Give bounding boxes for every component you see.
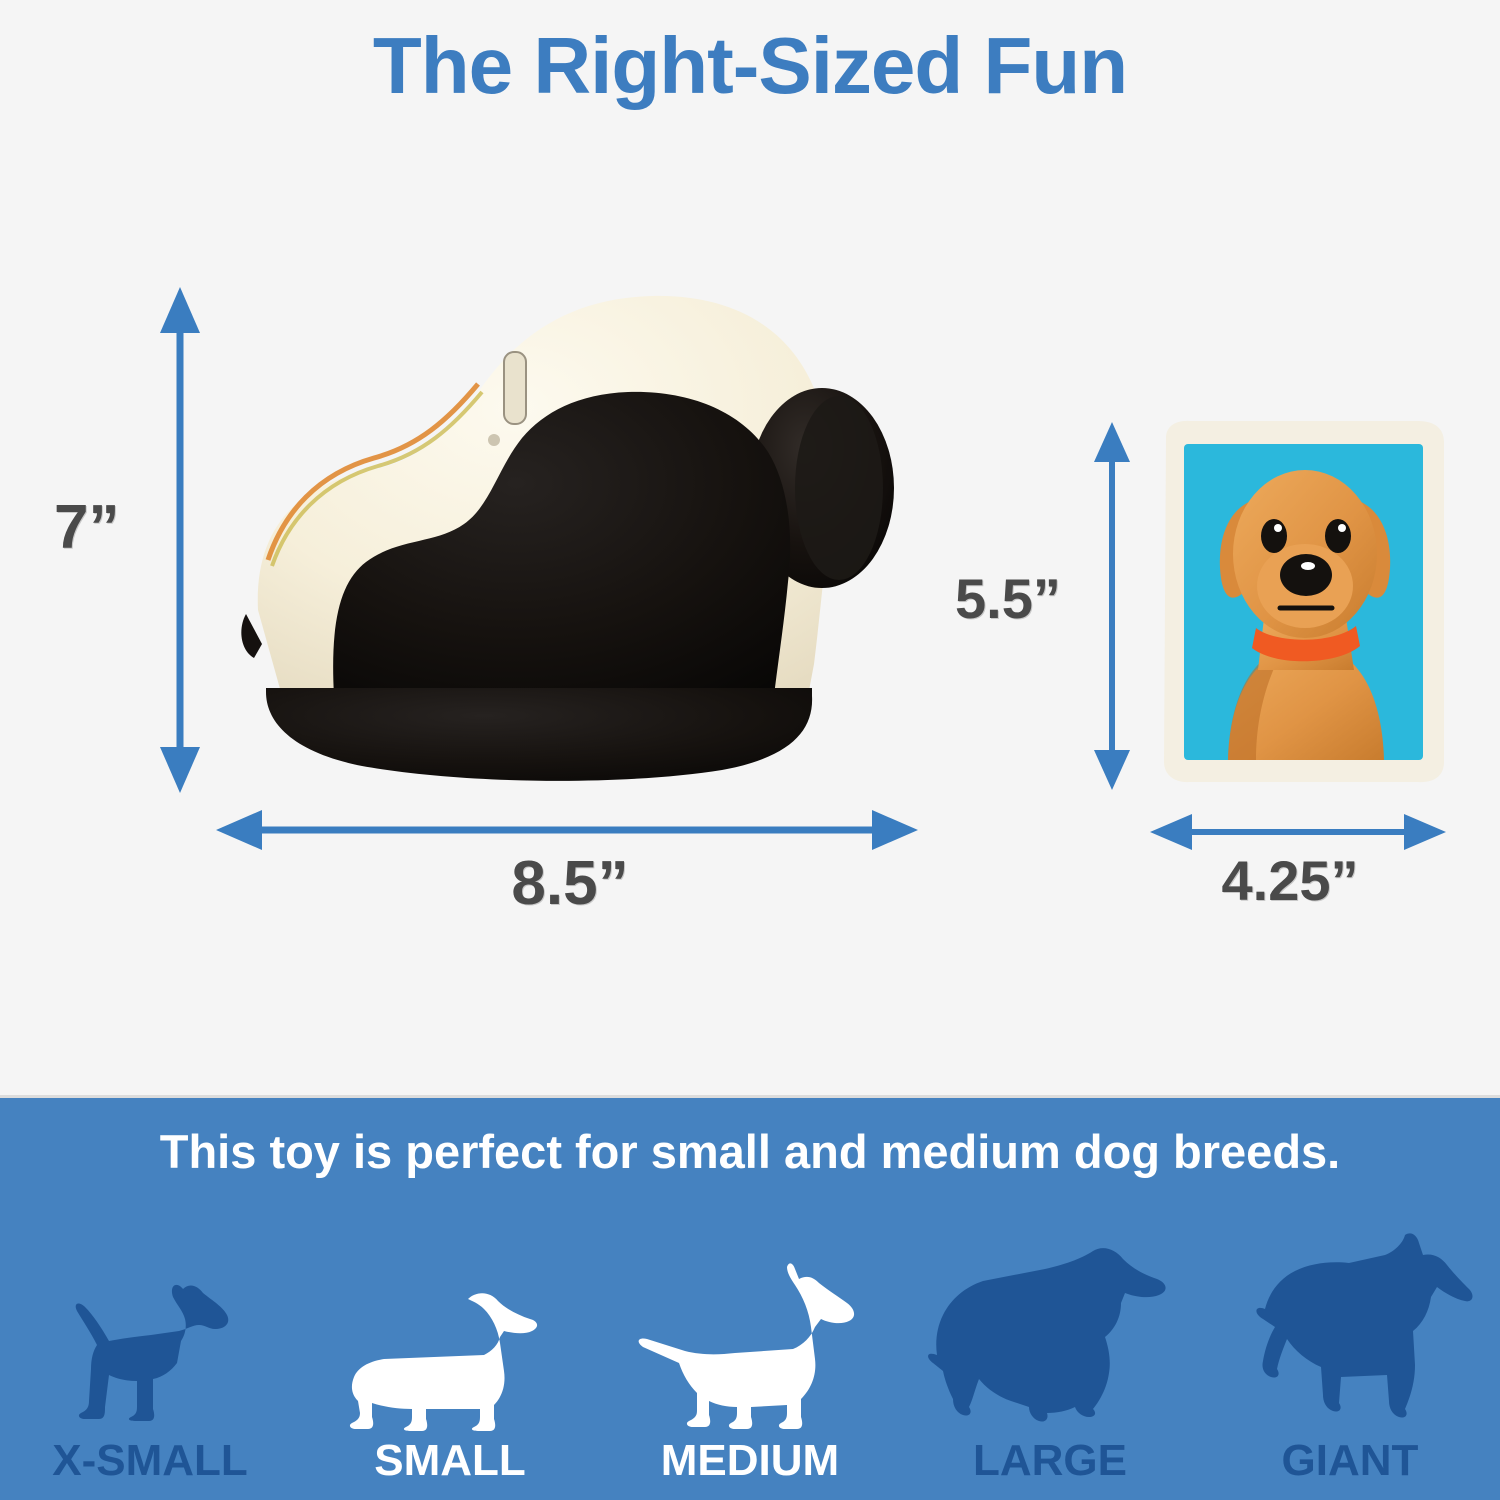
dog-eye-left — [1261, 519, 1287, 553]
dog-eye-left-highlight — [1274, 524, 1282, 532]
dog-portrait-plush-image — [1156, 418, 1451, 786]
size-label-small: SMALL — [374, 1439, 526, 1483]
chihuahua-silhouette-icon — [55, 1271, 245, 1431]
size-label-medium: MEDIUM — [661, 1439, 839, 1483]
dachshund-silhouette-icon — [340, 1271, 560, 1431]
golden-retriever-silhouette-icon — [925, 1241, 1175, 1431]
size-item-small[interactable]: SMALL — [305, 1271, 595, 1483]
breed-size-scale: X-SMALL SMALL MEDIUM LA — [0, 1208, 1500, 1483]
plush-lens-rim — [795, 396, 883, 580]
portrait-height-label: 5.5” — [955, 566, 1061, 631]
dog-eye-right-highlight — [1338, 524, 1346, 532]
portrait-height-arrow — [1090, 420, 1134, 792]
great-dane-silhouette-icon — [1225, 1231, 1475, 1431]
plush-shutter-button-detail — [488, 434, 500, 446]
plush-side-nub — [241, 614, 262, 658]
size-item-medium[interactable]: MEDIUM — [605, 1261, 895, 1483]
size-item-giant[interactable]: GIANT — [1205, 1231, 1495, 1483]
product-size-infographic: The Right-Sized Fun — [0, 0, 1500, 1500]
banner-headline: This toy is perfect for small and medium… — [0, 1124, 1500, 1179]
size-label-x-small: X-SMALL — [52, 1439, 248, 1483]
page-title: The Right-Sized Fun — [0, 26, 1500, 106]
size-label-giant: GIANT — [1282, 1439, 1419, 1483]
size-item-x-small[interactable]: X-SMALL — [5, 1271, 295, 1483]
size-item-large[interactable]: LARGE — [905, 1241, 1195, 1483]
product-dimensions-panel: The Right-Sized Fun — [0, 0, 1500, 1093]
bull-terrier-silhouette-icon — [635, 1261, 865, 1431]
main-width-arrow — [214, 808, 920, 852]
main-width-label: 8.5” — [0, 848, 1140, 919]
main-height-arrow — [158, 285, 202, 795]
breed-size-banner: This toy is perfect for small and medium… — [0, 1095, 1500, 1500]
dog-nose — [1280, 554, 1332, 596]
plush-black-base — [266, 688, 812, 781]
dog-nose-highlight — [1301, 562, 1315, 570]
size-label-large: LARGE — [973, 1439, 1127, 1483]
dog-eye-right — [1325, 519, 1351, 553]
main-height-label: 7” — [54, 492, 119, 563]
portrait-width-label: 4.25” — [1130, 848, 1450, 913]
instant-camera-plush-image — [222, 292, 932, 787]
plush-viewfinder-detail — [504, 352, 526, 424]
